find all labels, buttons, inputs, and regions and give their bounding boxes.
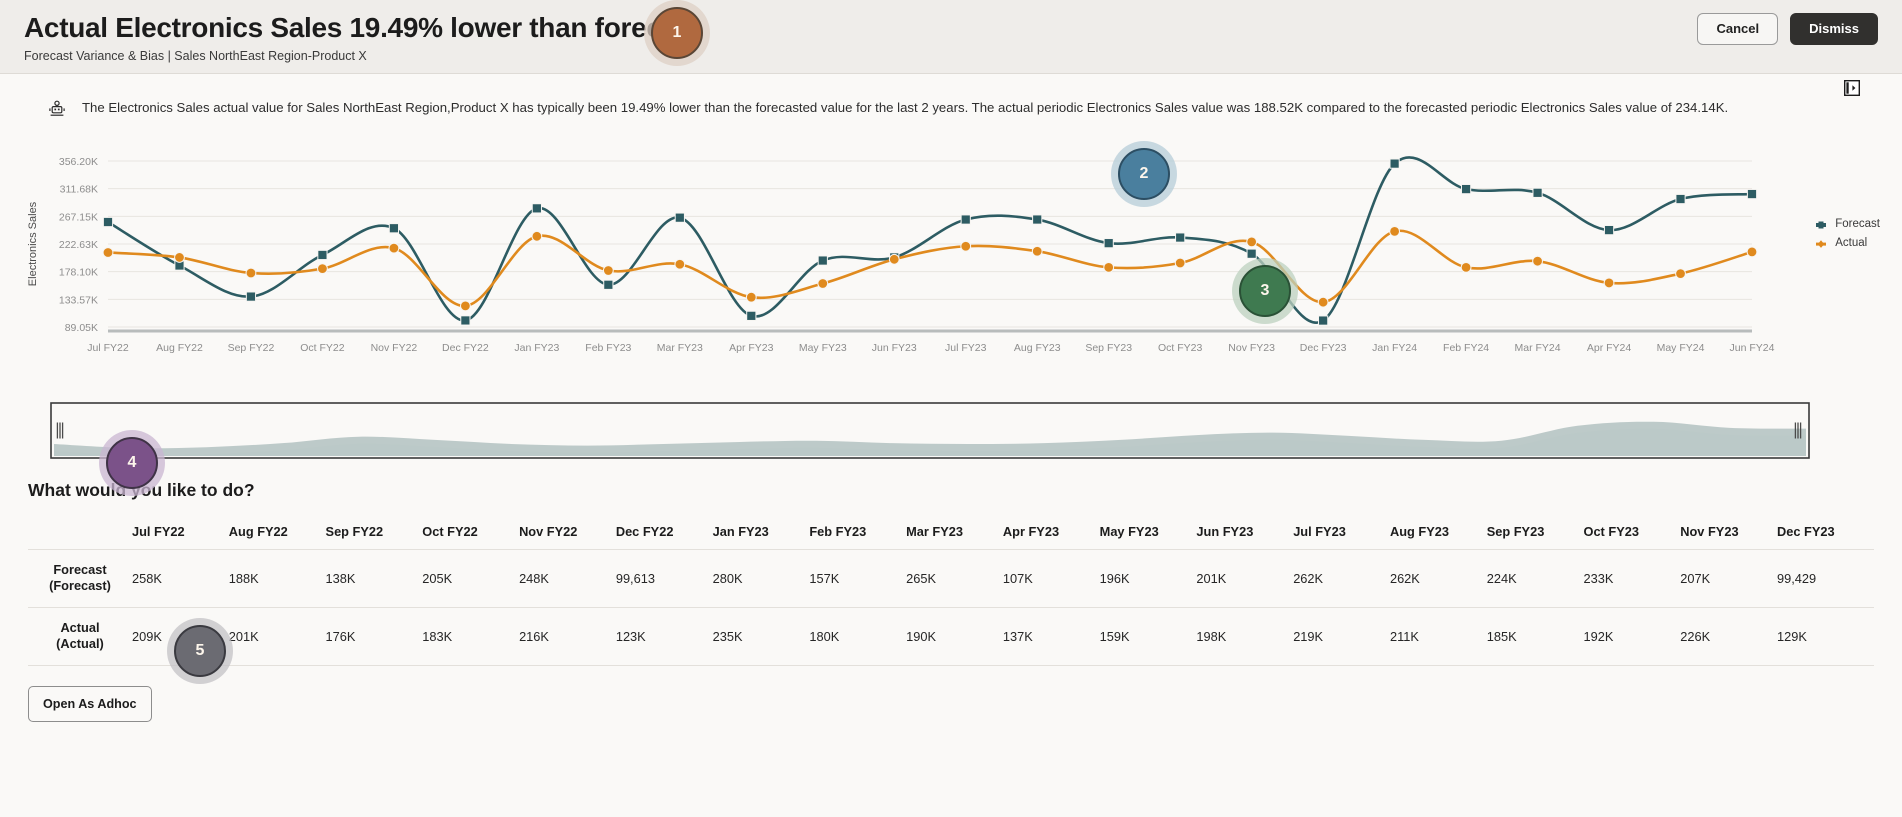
table-cell: 159K [1100,607,1197,665]
data-point-actual[interactable] [1247,237,1257,247]
actual-marker-icon [1815,239,1827,249]
row-label-secondary: (Actual) [28,636,132,652]
chart-canvas[interactable]: Electronics Sales356.20K311.68K267.15K22… [0,131,1902,396]
x-tick-label: Jul FY22 [87,342,129,354]
data-point-actual[interactable] [1604,278,1614,288]
page-subtitle: Forecast Variance & Bias | Sales NorthEa… [24,49,1878,64]
table-column-header[interactable]: Dec FY22 [616,515,713,549]
table-row-header: Forecast(Forecast) [28,549,132,607]
row-label-primary: Forecast [28,562,132,578]
x-tick-label: Apr FY23 [729,342,774,354]
table-cell: 185K [1487,607,1584,665]
table-cell: 258K [132,549,229,607]
legend-item-forecast[interactable]: Forecast [1815,215,1880,234]
x-tick-label: Mar FY23 [657,342,703,354]
data-point-forecast[interactable] [1033,215,1042,224]
table-header: Jul FY22Aug FY22Sep FY22Oct FY22Nov FY22… [28,515,1874,549]
data-point-forecast[interactable] [818,256,827,265]
table-column-header[interactable]: Jan FY23 [713,515,810,549]
table-column-header[interactable]: Nov FY23 [1680,515,1777,549]
table-cell: 157K [809,549,906,607]
table-cell: 226K [1680,607,1777,665]
x-tick-label: Dec FY23 [1300,342,1347,354]
table-cell: 265K [906,549,1003,607]
dismiss-button[interactable]: Dismiss [1790,13,1878,45]
y-tick-label: 356.20K [59,156,98,168]
table-cell: 107K [1003,549,1100,607]
table-cell: 123K [616,607,713,665]
table-column-header[interactable]: Oct FY22 [422,515,519,549]
row-label-primary: Actual [28,620,132,636]
data-point-actual[interactable] [603,266,613,276]
table-column-header[interactable]: Sep FY22 [326,515,423,549]
table-cell: 248K [519,549,616,607]
data-point-forecast[interactable] [1604,225,1613,234]
y-tick-label: 178.10K [59,267,98,279]
legend-label-forecast: Forecast [1835,215,1880,234]
data-point-forecast[interactable] [1176,233,1185,242]
data-point-actual[interactable] [318,264,328,274]
data-point-actual[interactable] [818,279,828,289]
data-point-forecast[interactable] [318,250,327,259]
data-point-forecast[interactable] [103,217,112,226]
table-column-header[interactable]: Jun FY23 [1196,515,1293,549]
x-tick-label: Dec FY22 [442,342,489,354]
x-tick-label: Jul FY23 [945,342,987,354]
data-point-actual[interactable] [389,243,399,253]
x-tick-label: Jan FY24 [1372,342,1417,354]
data-point-actual[interactable] [746,292,756,302]
data-point-actual[interactable] [246,268,256,278]
table-cell: 138K [326,549,423,607]
x-tick-label: May FY23 [799,342,847,354]
table-column-header[interactable]: Dec FY23 [1777,515,1874,549]
y-tick-label: 133.57K [59,294,98,306]
x-tick-label: Nov FY23 [1228,342,1275,354]
data-point-forecast[interactable] [1104,239,1113,248]
table-cell: 180K [809,607,906,665]
x-tick-label: Feb FY24 [1443,342,1489,354]
y-tick-label: 89.05K [65,322,98,334]
data-point-actual[interactable] [1104,262,1114,272]
table-column-header[interactable]: Mar FY23 [906,515,1003,549]
annotation-marker-label: 1 [673,24,682,42]
insight-panel: The Electronics Sales actual value for S… [0,73,1902,817]
data-point-forecast[interactable] [1533,188,1542,197]
table-cell: 137K [1003,607,1100,665]
x-tick-label: Sep FY22 [228,342,275,354]
table-cell: 99,613 [616,549,713,607]
y-tick-label: 311.68K [60,184,98,196]
data-point-actual[interactable] [961,241,971,251]
data-point-forecast[interactable] [1247,249,1256,258]
x-tick-label: Jun FY24 [1730,342,1775,354]
x-tick-label: Oct FY22 [300,342,345,354]
data-point-actual[interactable] [1175,258,1185,268]
narrative-text: The Electronics Sales actual value for S… [82,98,1728,123]
annotation-marker-label: 2 [1140,165,1149,183]
table-cell: 196K [1100,549,1197,607]
table-cell: 129K [1777,607,1874,665]
data-point-forecast[interactable] [246,292,255,301]
table-column-header[interactable]: Oct FY23 [1583,515,1680,549]
x-tick-label: Feb FY23 [585,342,631,354]
annotation-marker-label: 5 [196,642,205,660]
data-point-actual[interactable] [532,231,542,241]
chart-legend: Forecast Actual [1815,215,1880,253]
legend-item-actual[interactable]: Actual [1815,234,1880,253]
table-cell: 192K [1583,607,1680,665]
expand-panel-icon[interactable] [1844,80,1860,101]
table-cell: 262K [1390,549,1487,607]
y-tick-label: 222.63K [59,239,98,251]
x-tick-label: May FY24 [1657,342,1705,354]
data-point-actual[interactable] [1676,269,1686,279]
forecast-marker-icon [1815,220,1827,230]
data-point-actual[interactable] [1747,247,1757,257]
annotation-marker-5[interactable]: 5 [174,625,226,677]
annotation-marker-1[interactable]: 1 [651,7,703,59]
trend-chart: Electronics Sales356.20K311.68K267.15K22… [0,123,1902,396]
table-body: Forecast(Forecast)258K188K138K205K248K99… [28,549,1874,665]
annotation-marker-3[interactable]: 3 [1239,265,1291,317]
data-point-forecast[interactable] [532,204,541,213]
data-point-actual[interactable] [1533,256,1543,266]
data-point-actual[interactable] [1318,297,1328,307]
table-cell: 190K [906,607,1003,665]
table-cell: 233K [1583,549,1680,607]
table-cell: 205K [422,549,519,607]
page-title: Actual Electronics Sales 19.49% lower th… [24,12,1878,44]
data-point-actual[interactable] [1032,246,1042,256]
table-column-header[interactable]: Apr FY23 [1003,515,1100,549]
table-cell: 235K [713,607,810,665]
legend-label-actual: Actual [1835,234,1867,253]
data-point-forecast[interactable] [1461,184,1470,193]
table-row: Forecast(Forecast)258K188K138K205K248K99… [28,549,1874,607]
insight-dialog: Actual Electronics Sales 19.49% lower th… [0,0,1902,817]
x-tick-label: Sep FY23 [1085,342,1132,354]
data-point-forecast[interactable] [604,280,613,289]
table-column-header[interactable]: Jul FY23 [1293,515,1390,549]
annotation-marker-label: 4 [128,454,137,472]
table-column-header[interactable]: Sep FY23 [1487,515,1584,549]
series-line-actual [108,231,1752,306]
table-cell: 216K [519,607,616,665]
table-header-row: Jul FY22Aug FY22Sep FY22Oct FY22Nov FY22… [28,515,1874,549]
data-table: Jul FY22Aug FY22Sep FY22Oct FY22Nov FY22… [28,515,1874,666]
annotation-marker-4[interactable]: 4 [106,437,158,489]
data-point-forecast[interactable] [961,215,970,224]
table-column-header[interactable]: Feb FY23 [809,515,906,549]
annotation-marker-2[interactable]: 2 [1118,148,1170,200]
series-line-forecast [108,157,1752,322]
annotation-marker-label: 3 [1261,282,1270,300]
table-cell: 219K [1293,607,1390,665]
table-cell: 176K [326,607,423,665]
table-cell: 99,429 [1777,549,1874,607]
range-slider-canvas[interactable] [50,402,1810,459]
data-table-wrap: Jul FY22Aug FY22Sep FY22Oct FY22Nov FY22… [0,501,1902,666]
data-point-forecast[interactable] [1390,159,1399,168]
table-cell: 188K [229,549,326,607]
table-row-header: Actual(Actual) [28,607,132,665]
table-column-header[interactable]: May FY23 [1100,515,1197,549]
table-column-header[interactable]: Jul FY22 [132,515,229,549]
question-heading: What would you like to do? [0,464,1902,501]
table-cell: 183K [422,607,519,665]
table-cell: 211K [1390,607,1487,665]
table-cell: 262K [1293,549,1390,607]
bot-icon [48,100,66,123]
table-cell: 198K [1196,607,1293,665]
data-point-forecast[interactable] [1676,194,1685,203]
data-point-forecast[interactable] [461,316,470,325]
table-cell: 207K [1680,549,1777,607]
data-point-forecast[interactable] [389,224,398,233]
data-point-actual[interactable] [1390,226,1400,236]
x-tick-label: Jun FY23 [872,342,917,354]
data-point-actual[interactable] [175,253,185,263]
data-point-forecast[interactable] [1319,316,1328,325]
row-label-secondary: (Forecast) [28,578,132,594]
data-point-actual[interactable] [675,259,685,269]
range-slider[interactable] [0,396,1902,464]
x-tick-label: Nov FY22 [371,342,418,354]
x-tick-label: Oct FY23 [1158,342,1203,354]
table-column-header[interactable]: Nov FY22 [519,515,616,549]
table-cell: 280K [713,549,810,607]
table-row: Actual(Actual)209K201K176K183K216K123K23… [28,607,1874,665]
data-point-forecast[interactable] [675,213,684,222]
x-tick-label: Jan FY23 [514,342,559,354]
table-corner-cell [28,515,132,549]
x-tick-label: Apr FY24 [1587,342,1632,354]
data-point-forecast[interactable] [1747,189,1756,198]
data-point-actual[interactable] [460,301,470,311]
table-column-header[interactable]: Aug FY22 [229,515,326,549]
y-tick-label: 267.15K [59,211,98,223]
table-cell: 201K [229,607,326,665]
data-point-actual[interactable] [889,254,899,264]
open-as-adhoc-button[interactable]: Open As Adhoc [28,686,152,722]
x-tick-label: Aug FY23 [1014,342,1061,354]
dialog-header: Actual Electronics Sales 19.49% lower th… [0,0,1902,73]
data-point-forecast[interactable] [747,311,756,320]
table-cell: 224K [1487,549,1584,607]
table-column-header[interactable]: Aug FY23 [1390,515,1487,549]
table-cell: 201K [1196,549,1293,607]
header-actions: Cancel Dismiss [1697,13,1878,45]
cancel-button[interactable]: Cancel [1697,13,1778,45]
x-tick-label: Mar FY24 [1515,342,1561,354]
data-point-actual[interactable] [1461,262,1471,272]
dialog-footer: Open As Adhoc [0,666,1902,722]
x-tick-label: Aug FY22 [156,342,203,354]
data-point-actual[interactable] [103,248,113,258]
narrative-block: The Electronics Sales actual value for S… [0,74,1902,123]
y-axis-title: Electronics Sales [27,201,39,286]
